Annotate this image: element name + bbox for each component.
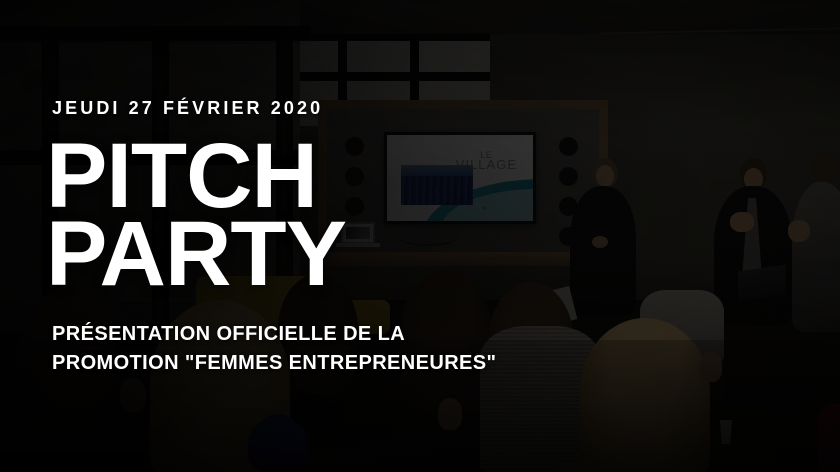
title-line-party: PARTY [46,215,346,293]
subtitle-line-1: PRÉSENTATION OFFICIELLE DE LA [52,320,496,349]
event-poster: LE VILLAGE [0,0,840,472]
subtitle-line-2: PROMOTION "FEMMES ENTREPRENEURES" [52,349,496,378]
poster-text-content: JEUDI 27 FÉVRIER 2020 PITCH PARTY PRÉSEN… [52,0,812,472]
poster-subtitle: PRÉSENTATION OFFICIELLE DE LA PROMOTION … [52,320,496,378]
poster-title: PITCH PARTY [46,137,346,293]
event-date: JEUDI 27 FÉVRIER 2020 [52,98,323,119]
